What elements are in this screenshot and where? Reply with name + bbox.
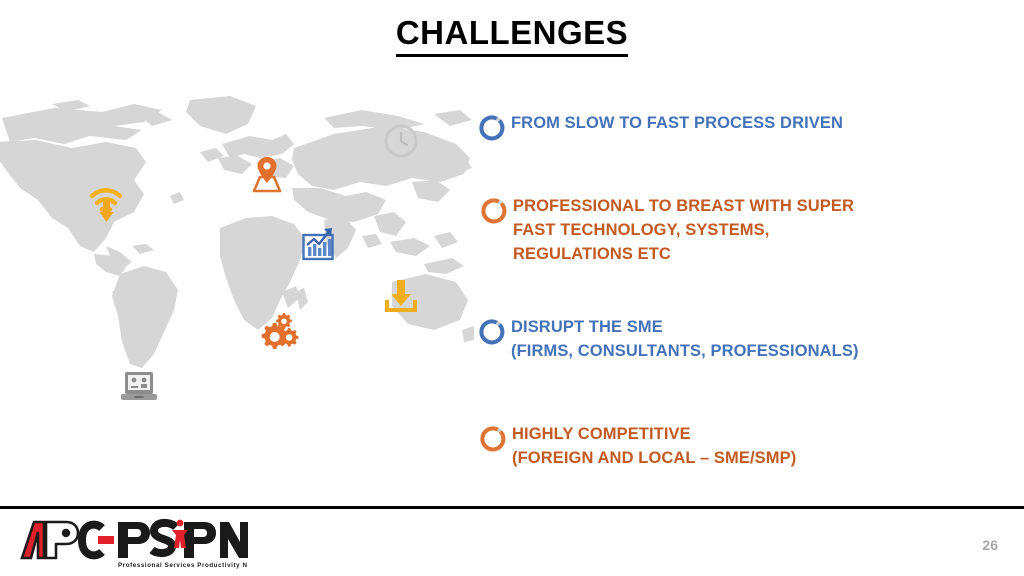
- logo-mpc-mark: [22, 522, 114, 558]
- logo-tagline: Professional Services Productivity Nexus: [118, 562, 248, 569]
- list-item-label: PROFESSIONAL TO BREAST WITH SUPER FAST T…: [513, 195, 854, 266]
- list-item: FROM SLOW TO FAST PROCESS DRIVEN: [477, 112, 843, 143]
- ring-arrow-icon: [478, 424, 508, 454]
- mpc-pspn-logo: Professional Services Productivity Nexus: [18, 518, 248, 570]
- list-item-label: DISRUPT THE SME (FIRMS, CONSULTANTS, PRO…: [511, 316, 859, 364]
- list-item-label: FROM SLOW TO FAST PROCESS DRIVEN: [511, 112, 843, 136]
- page-title: CHALLENGES: [0, 14, 1024, 57]
- wifi-signal-icon: [86, 180, 126, 224]
- map-pin-icon: [248, 155, 286, 195]
- slide-canvas: CHALLENGES: [0, 0, 1024, 576]
- list-item: HIGHLY COMPETITIVE (FOREIGN AND LOCAL – …: [478, 423, 796, 471]
- footer-divider: [0, 506, 1024, 509]
- ring-arrow-icon: [479, 196, 509, 226]
- page-number: 26: [982, 537, 998, 553]
- gears-icon: [258, 312, 300, 352]
- bar-chart-growth-icon: [302, 227, 334, 261]
- page-title-text: CHALLENGES: [396, 14, 628, 57]
- list-item-label: HIGHLY COMPETITIVE (FOREIGN AND LOCAL – …: [512, 423, 796, 471]
- list-item: DISRUPT THE SME (FIRMS, CONSULTANTS, PRO…: [477, 316, 859, 364]
- laptop-icon: [120, 370, 158, 404]
- clock-icon: [384, 124, 418, 158]
- list-item: PROFESSIONAL TO BREAST WITH SUPER FAST T…: [479, 195, 854, 266]
- download-arrow-icon: [385, 278, 417, 312]
- ring-arrow-icon: [477, 317, 507, 347]
- ring-arrow-icon: [477, 113, 507, 143]
